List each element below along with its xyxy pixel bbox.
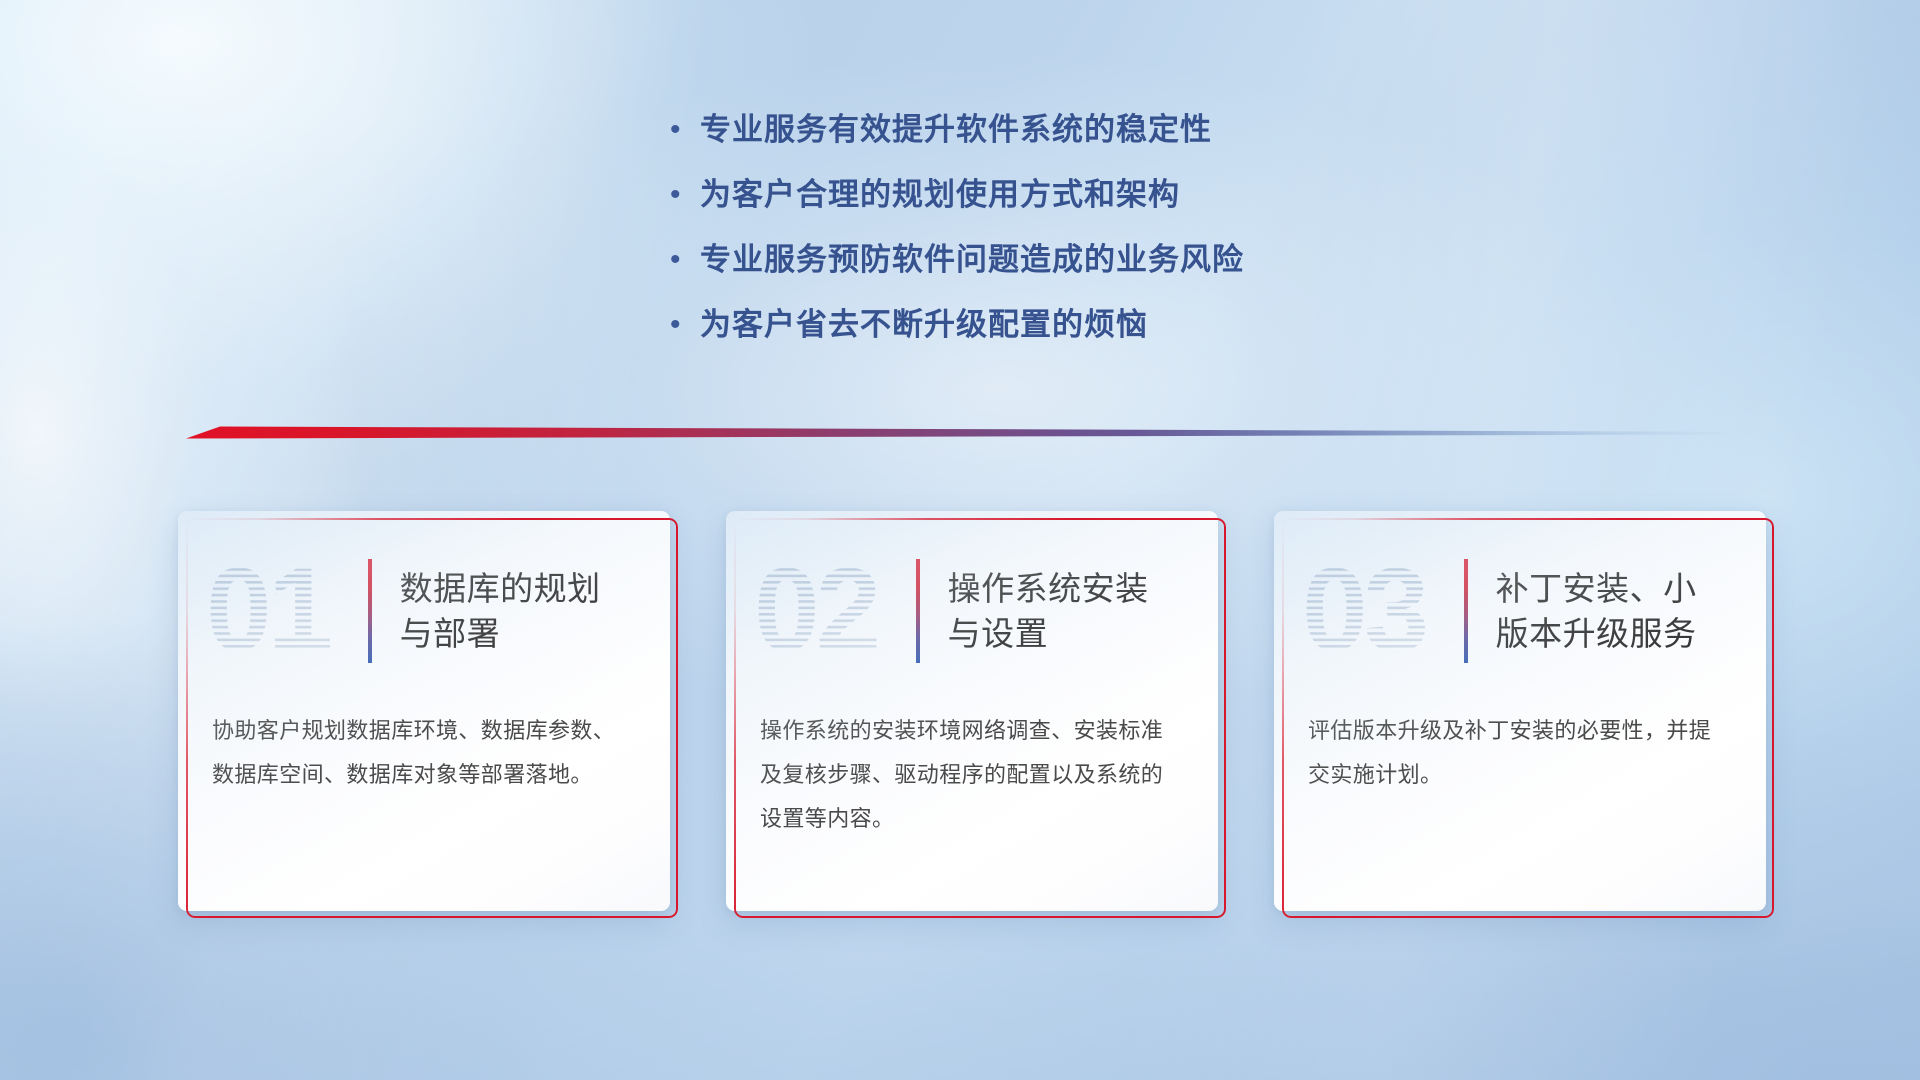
bullet-item-text: 为客户省去不断升级配置的烦恼 xyxy=(700,305,1148,345)
card-header: 03 补丁安装、小 版本升级服务 xyxy=(1274,541,1766,681)
card-description: 操作系统的安装环境网络调查、安装标准及复核步骤、驱动程序的配置以及系统的设置等内… xyxy=(760,709,1180,841)
section-divider xyxy=(186,418,1726,448)
striped-number-icon: 01 xyxy=(204,549,356,673)
card-accent-bar xyxy=(368,559,372,663)
service-card[interactable]: 01 数据库的规划 与部署 协助客户规划数据库环境、数据库参数、数据库空间、数据… xyxy=(186,518,678,918)
bullet-dot-icon: • xyxy=(670,305,700,345)
card-accent-bar xyxy=(1464,559,1468,663)
card-number-watermark: 03 xyxy=(1300,549,1452,673)
bullet-dot-icon: • xyxy=(670,240,700,280)
bullet-dot-icon: • xyxy=(670,110,700,150)
card-title: 补丁安装、小 版本升级服务 xyxy=(1496,566,1697,656)
card-description: 协助客户规划数据库环境、数据库参数、数据库空间、数据库对象等部署落地。 xyxy=(212,709,632,797)
card-panel: 01 数据库的规划 与部署 协助客户规划数据库环境、数据库参数、数据库空间、数据… xyxy=(178,511,670,911)
card-number-watermark: 01 xyxy=(204,549,356,673)
card-panel: 03 补丁安装、小 版本升级服务 评估版本升级及补丁安装的必要性，并提交实施计划… xyxy=(1274,511,1766,911)
service-card-list: 01 数据库的规划 与部署 协助客户规划数据库环境、数据库参数、数据库空间、数据… xyxy=(186,518,1776,918)
divider-wedge-icon xyxy=(186,418,1726,448)
striped-number-icon: 02 xyxy=(752,549,904,673)
bullet-item-text: 专业服务预防软件问题造成的业务风险 xyxy=(700,240,1244,280)
card-panel: 02 操作系统安装 与设置 操作系统的安装环境网络调查、安装标准及复核步骤、驱动… xyxy=(726,511,1218,911)
svg-text:01: 01 xyxy=(206,549,331,673)
card-header: 01 数据库的规划 与部署 xyxy=(178,541,670,681)
svg-text:03: 03 xyxy=(1302,549,1426,673)
card-number-watermark: 02 xyxy=(752,549,904,673)
slide-content: • 专业服务有效提升软件系统的稳定性 • 为客户合理的规划使用方式和架构 • 专… xyxy=(0,0,1920,1080)
bullet-item: • 专业服务有效提升软件系统的稳定性 xyxy=(670,110,1244,175)
bullet-dot-icon: • xyxy=(670,175,700,215)
card-header: 02 操作系统安装 与设置 xyxy=(726,541,1218,681)
bullet-item-text: 为客户合理的规划使用方式和架构 xyxy=(700,175,1180,215)
svg-text:02: 02 xyxy=(754,549,877,673)
card-title: 数据库的规划 与部署 xyxy=(400,566,601,656)
bullet-item: • 专业服务预防软件问题造成的业务风险 xyxy=(670,240,1244,305)
bullet-item: • 为客户省去不断升级配置的烦恼 xyxy=(670,305,1244,370)
service-card[interactable]: 02 操作系统安装 与设置 操作系统的安装环境网络调查、安装标准及复核步骤、驱动… xyxy=(734,518,1226,918)
benefits-bullet-list: • 专业服务有效提升软件系统的稳定性 • 为客户合理的规划使用方式和架构 • 专… xyxy=(670,110,1244,370)
bullet-item: • 为客户合理的规划使用方式和架构 xyxy=(670,175,1244,240)
card-accent-bar xyxy=(916,559,920,663)
striped-number-icon: 03 xyxy=(1300,549,1452,673)
card-title: 操作系统安装 与设置 xyxy=(948,566,1149,656)
bullet-item-text: 专业服务有效提升软件系统的稳定性 xyxy=(700,110,1212,150)
card-description: 评估版本升级及补丁安装的必要性，并提交实施计划。 xyxy=(1308,709,1728,797)
service-card[interactable]: 03 补丁安装、小 版本升级服务 评估版本升级及补丁安装的必要性，并提交实施计划… xyxy=(1282,518,1774,918)
